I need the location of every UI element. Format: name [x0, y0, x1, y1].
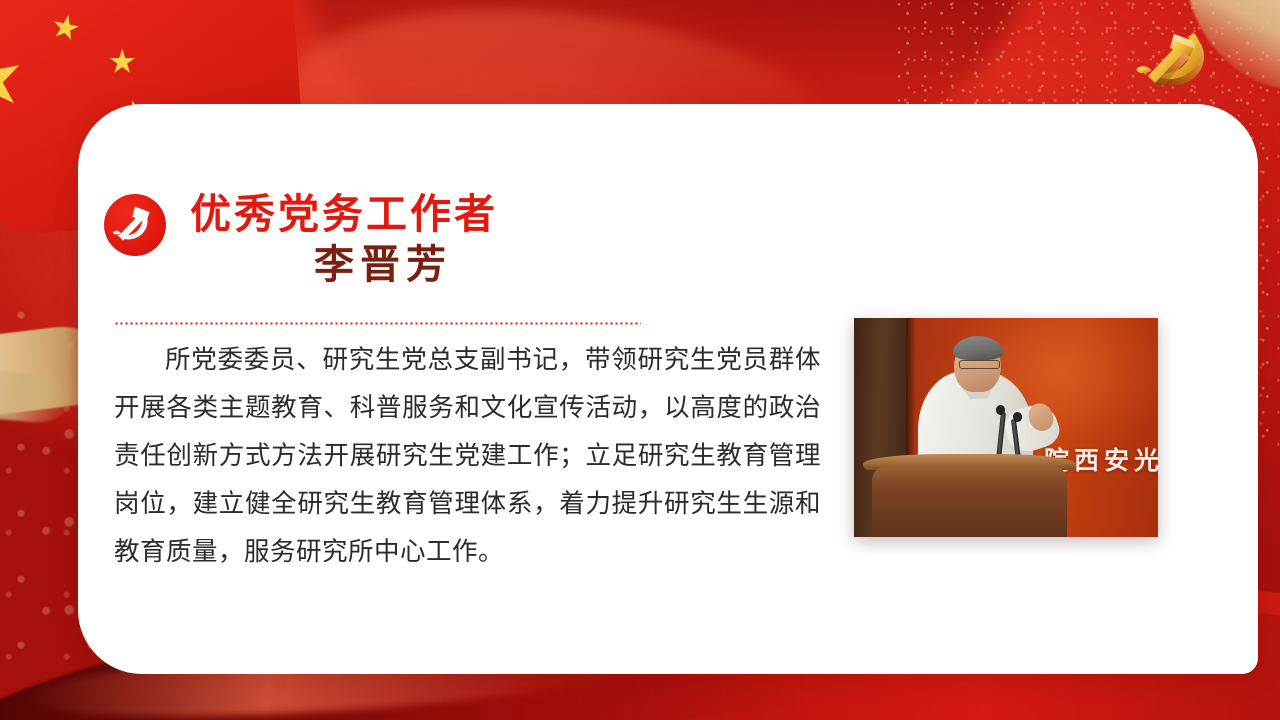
header-row: 优秀党务工作者 李晋芳: [104, 192, 498, 288]
party-emblem-gold-icon: [1128, 24, 1220, 96]
person-name: 李晋芳: [190, 243, 498, 288]
person-photo: 院西安光: [854, 318, 1158, 537]
content-card: 优秀党务工作者 李晋芳 所党委委员、研究生党总支副书记，带领研究生党员群体开展各…: [78, 104, 1258, 674]
title-block: 优秀党务工作者 李晋芳: [190, 192, 498, 288]
hammer-sickle-icon: [104, 194, 166, 256]
description-paragraph: 所党委委员、研究生党总支副书记，带领研究生党员群体开展各类主题教育、科普服务和文…: [114, 336, 821, 576]
photo-podium: [872, 465, 1067, 537]
page-title: 优秀党务工作者: [190, 192, 498, 236]
photo-person-glasses: [959, 360, 1001, 369]
slide-canvas: 优秀党务工作者 李晋芳 所党委委员、研究生党总支副书记，带领研究生党员群体开展各…: [0, 0, 1280, 720]
dotted-divider: [114, 322, 641, 325]
